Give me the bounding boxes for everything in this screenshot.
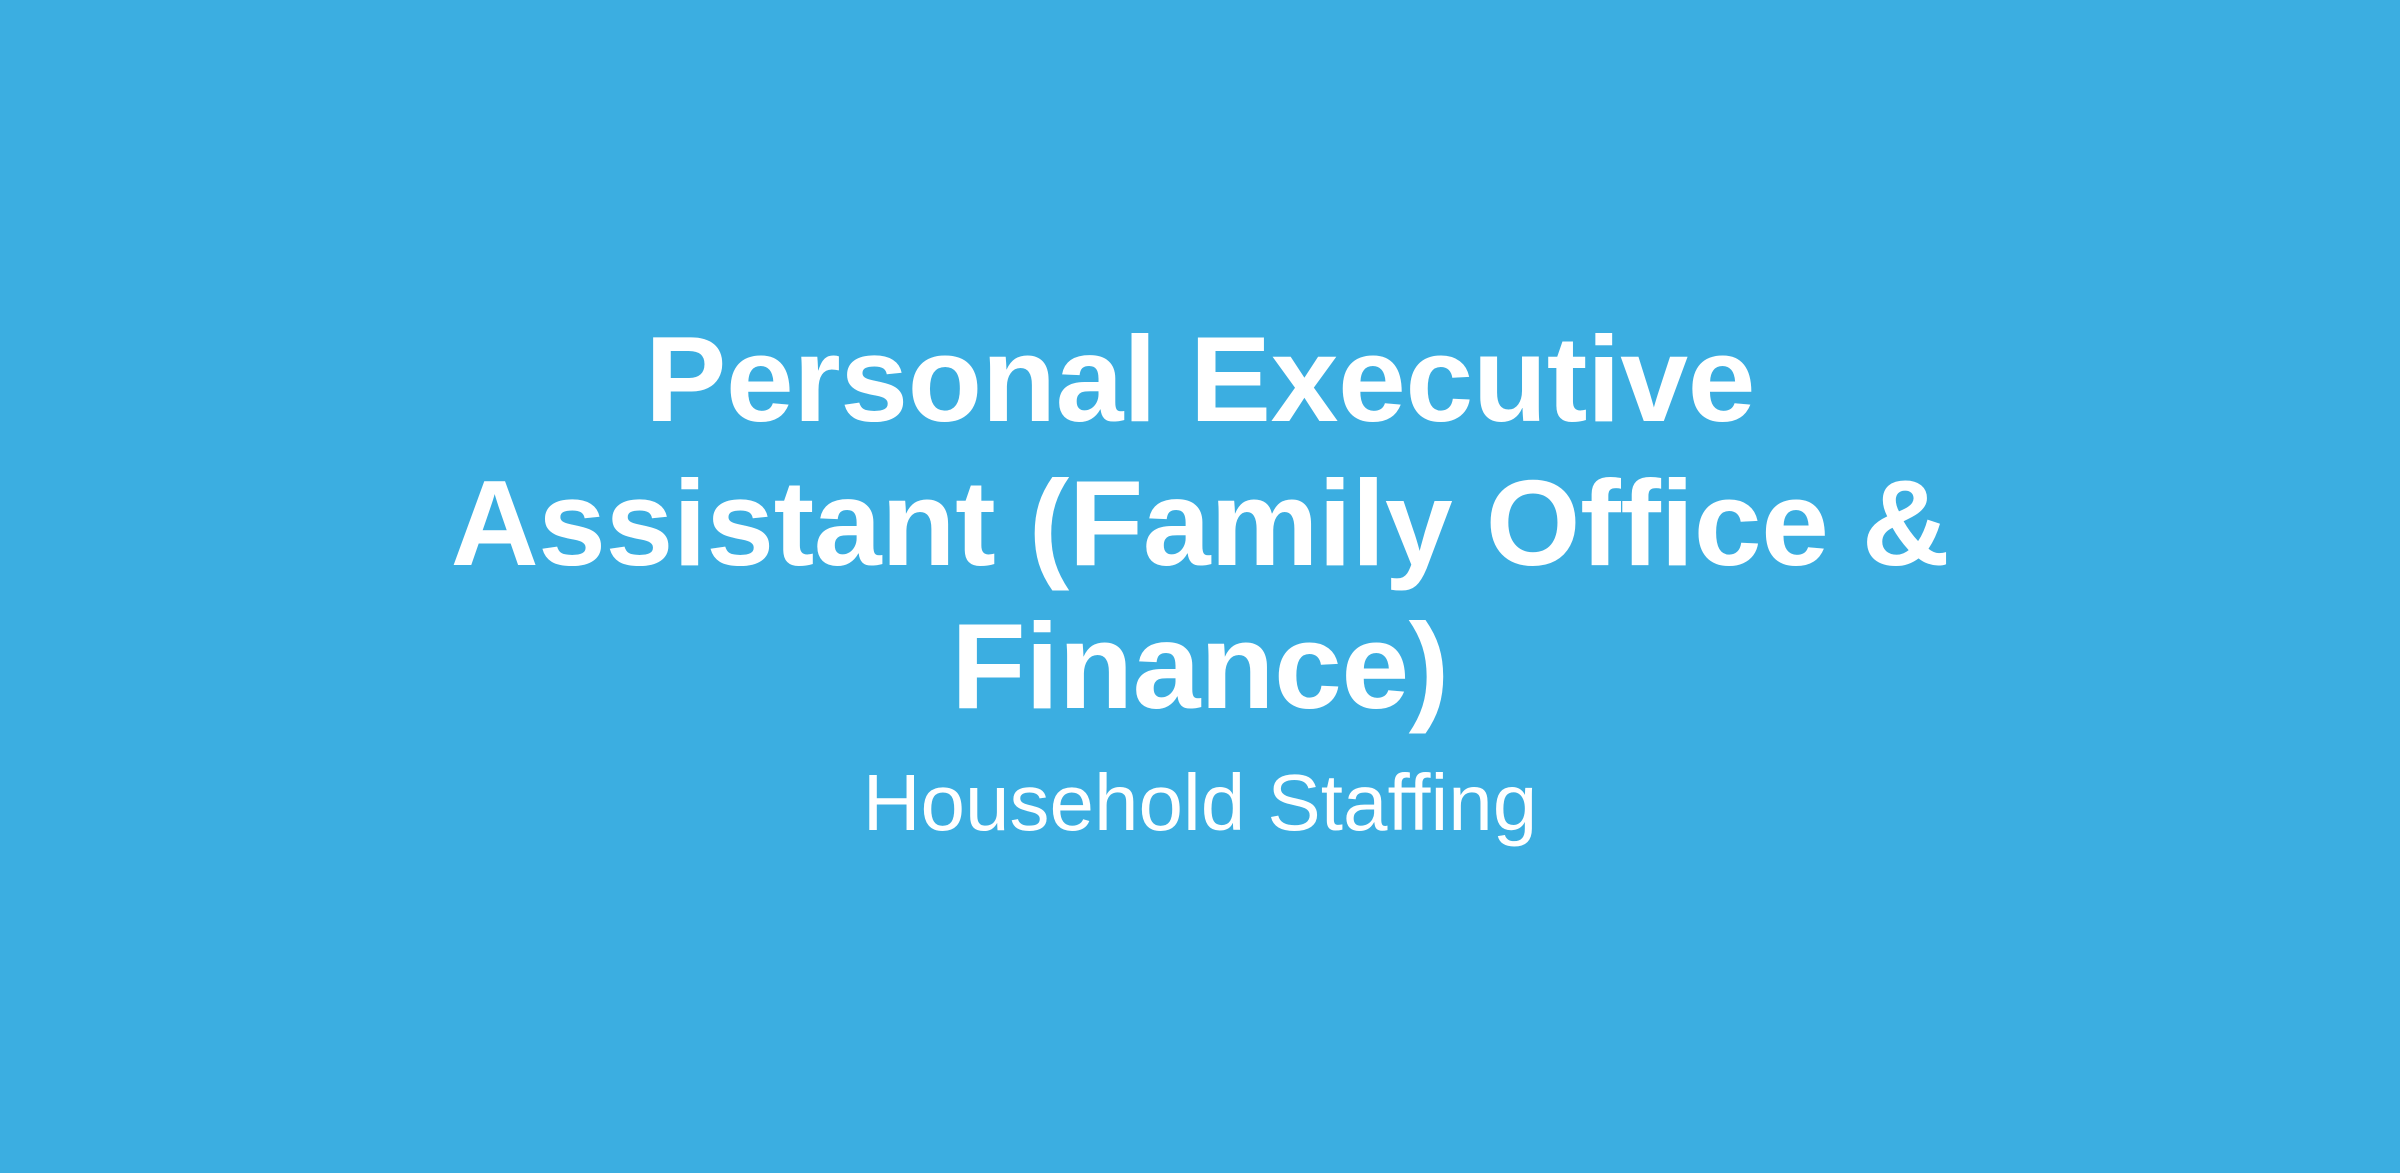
page-subtitle: Household Staffing (220, 757, 2180, 849)
page-title: Personal Executive Assistant (Family Off… (360, 308, 2040, 738)
banner-content: Personal Executive Assistant (Family Off… (220, 308, 2180, 848)
job-listing-banner: Personal Executive Assistant (Family Off… (0, 0, 2400, 1173)
